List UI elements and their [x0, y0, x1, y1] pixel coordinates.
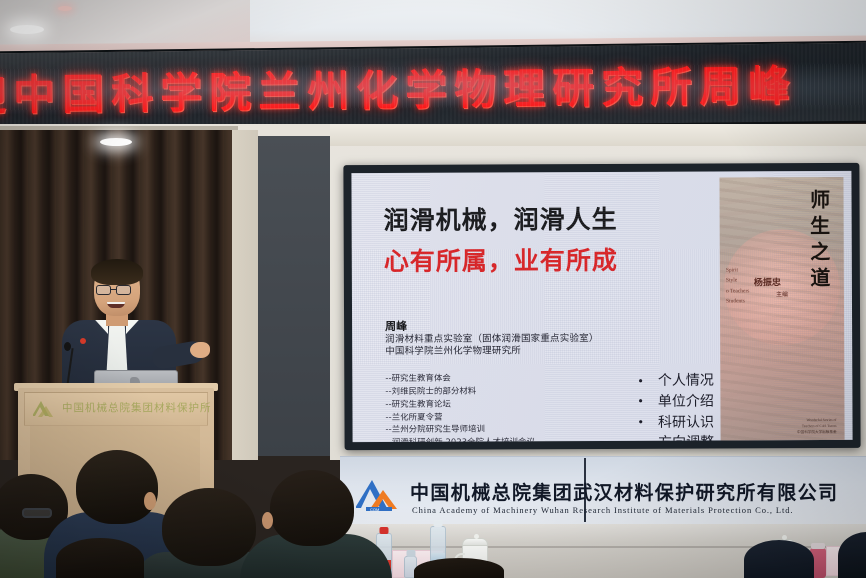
- list-item: --润滑科研创新 2023全院人才培训会议: [386, 435, 602, 442]
- wall-pillar: [232, 130, 258, 460]
- list-item: • 个人情况: [637, 371, 714, 392]
- ceiling-light-icon: [58, 6, 72, 11]
- cup-knob: [474, 534, 479, 539]
- bullet-icon: •: [637, 415, 644, 431]
- banner-text: 迎中国科学院兰州化学物理研究所周峰: [0, 52, 797, 123]
- thermos-cap: [811, 543, 825, 549]
- list-item-label: 单位介绍: [658, 392, 714, 413]
- list-item-label: 个人情况: [658, 371, 714, 392]
- eyeglasses-icon: [116, 285, 131, 295]
- eyeglasses-bridge: [111, 289, 116, 290]
- audience-head: [414, 558, 504, 578]
- bullet-icon: •: [637, 373, 644, 389]
- wall-trim: [330, 124, 866, 146]
- microphone-icon: [64, 342, 71, 351]
- bullet-icon: •: [638, 436, 645, 443]
- audience-ear: [144, 492, 156, 510]
- list-item: • 科研认识: [637, 412, 714, 433]
- audience-ear: [262, 512, 273, 529]
- slide-left-bullet-list: --研究生教育体会 --刘维民院士的部分材料 --研究生教育论坛 --兰化所夏令…: [385, 371, 601, 442]
- presentation-slide: 润滑机械，润滑人生 心有所属，业有所成 周峰 润滑材料重点实验室（固体润滑国家重…: [351, 171, 852, 442]
- ceiling-light-icon: [100, 138, 132, 146]
- audience-head: [76, 450, 158, 524]
- book-author-role: 主编: [776, 289, 788, 298]
- wall-sign-english: China Academy of Machinery Wuhan Researc…: [412, 505, 793, 515]
- book-footer-text: Wonderful Stories of Teachers of CAS Tut…: [797, 417, 837, 436]
- lecture-hall-photo: 迎中国科学院兰州化学物理研究所周峰 润滑机械，润滑人生 心有所属，业有所成 周峰…: [0, 0, 866, 578]
- list-item: • 单位介绍: [637, 392, 714, 413]
- banner-sheen: [0, 43, 866, 134]
- slide-right-bullet-list: • 个人情况 • 单位介绍 • 科研认识 • 方: [637, 371, 714, 442]
- speaker-hair: [91, 259, 143, 285]
- audience-head: [56, 538, 144, 578]
- audience-head: [270, 470, 354, 546]
- wall-sign-chinese: 中国机械总院集团武汉材料保护研究所有限公司: [410, 478, 838, 505]
- list-item: --兰州分院研究生导师培训: [386, 422, 602, 436]
- book-cover-image: 师生之道 杨振忠 主编 Spirit Style o Teachers Stud…: [719, 177, 844, 442]
- speaker-hand: [190, 342, 210, 358]
- eyeglasses-icon: [96, 285, 111, 295]
- cup-lid: [462, 538, 488, 546]
- podium-triangle-logo-icon: [33, 399, 55, 418]
- list-item: --研究生教育体会: [385, 371, 601, 385]
- podium-text: 中国机械总院集团材料保护所: [62, 400, 212, 415]
- list-item-label: 方向调整: [658, 433, 714, 442]
- list-item: --刘维民院士的部分材料: [385, 384, 601, 398]
- com-triangle-logo-icon: COM: [356, 478, 402, 512]
- ceiling-light-icon: [10, 25, 44, 34]
- bottle-cap: [406, 550, 415, 557]
- bullet-icon: •: [637, 394, 644, 410]
- list-item: --兰化所夏令营: [385, 410, 601, 424]
- audience-head: [162, 488, 256, 566]
- presentation-display: 润滑机械，润滑人生 心有所属，业有所成 周峰 润滑材料重点实验室（固体润滑国家重…: [343, 163, 860, 450]
- bottle-cap: [434, 520, 443, 527]
- list-item: • 方向调整: [638, 433, 715, 442]
- book-english-text: Spirit Style o Teachers Students: [726, 265, 750, 307]
- eyeglasses-icon: [22, 508, 52, 518]
- svg-text:COM: COM: [370, 507, 379, 512]
- book-title: 师生之道: [804, 189, 833, 293]
- bottle-cap: [380, 527, 389, 534]
- audience-head: [744, 540, 814, 578]
- book-author: 杨振忠: [754, 275, 781, 288]
- led-welcome-banner: 迎中国科学院兰州化学物理研究所周峰: [0, 41, 866, 134]
- list-item: --研究生教育论坛: [385, 397, 601, 411]
- lapel-pin-icon: [80, 338, 86, 344]
- list-item-label: 科研认识: [658, 412, 714, 433]
